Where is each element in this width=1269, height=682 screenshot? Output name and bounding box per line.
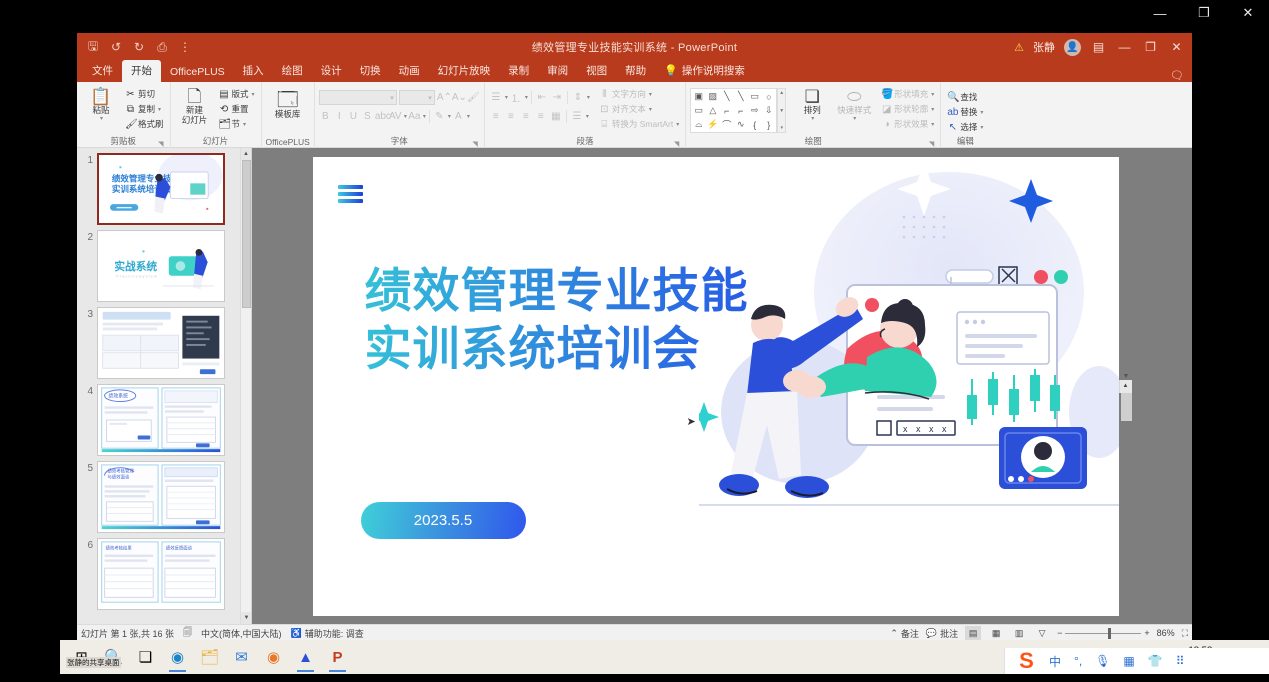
select-label: 选择 bbox=[960, 121, 977, 133]
zoom-track[interactable] bbox=[1065, 633, 1141, 634]
ribbon-tabs: 文件 开始 OfficePLUS 插入 绘图 设计 切换 动画 幻灯片放映 录制… bbox=[77, 61, 1192, 82]
decrease-indent-button[interactable]: ⇤ bbox=[535, 92, 549, 103]
bold-button[interactable]: B bbox=[319, 111, 332, 122]
ribbon-group-font: ▾ ▾ A⌃ A⌄ 🖌 B I U S abc AV ▾ Aa ▾ bbox=[315, 82, 485, 148]
thumbnail-slide-2[interactable]: 实战系统 P r a c t i c e S y s t e m bbox=[97, 230, 225, 302]
outer-maximize-button[interactable]: ❐ bbox=[1193, 5, 1215, 21]
accessibility-status[interactable]: ♿ 辅助功能: 调查 bbox=[291, 627, 364, 640]
thumbnail-number: 2 bbox=[81, 230, 97, 243]
menu-icon bbox=[338, 185, 363, 206]
underline-button[interactable]: U bbox=[347, 111, 360, 122]
share-icon[interactable]: 🗨 bbox=[1170, 69, 1192, 82]
shape-line[interactable]: ╲ bbox=[720, 90, 733, 103]
thumbnail-row[interactable]: 1 绩效管理专业技能 实训系统培训会 bbox=[77, 148, 251, 225]
tell-me-search[interactable]: 💡 操作说明搜索 bbox=[655, 60, 754, 82]
account-name[interactable]: 张静 bbox=[1033, 39, 1055, 55]
font-color-button[interactable]: A bbox=[452, 111, 465, 122]
align-text-label: 对齐文本 bbox=[612, 103, 646, 115]
running-indicator bbox=[169, 670, 186, 672]
text-direction-icon: ⦀ bbox=[599, 89, 610, 100]
chevron-down-icon[interactable]: ▾ bbox=[243, 121, 246, 128]
reading-view-button[interactable]: ▥ bbox=[1011, 626, 1027, 640]
accessibility-label: 辅助功能: 调查 bbox=[305, 627, 364, 640]
shape-rectangle[interactable]: ▭ bbox=[748, 90, 761, 103]
numbering-button[interactable]: ⒈ bbox=[509, 90, 523, 105]
cut-button[interactable]: ✂ 剪切 bbox=[123, 87, 166, 101]
taskbar: ⊞ 🔍 张静的共享桌面 ❏ ◉ 🗂 ✉ ◉ ▲ P ⌃ 🎙 ⇄ 🔊 ▭ 中 囲 … bbox=[60, 640, 1269, 674]
paste-button[interactable]: 📋 粘贴 ▾ bbox=[81, 86, 121, 123]
svg-text:实战系统: 实战系统 bbox=[114, 260, 157, 273]
shape-elbow-2[interactable]: ⌐ bbox=[734, 104, 747, 117]
columns-button[interactable]: ▦ bbox=[549, 111, 563, 122]
shape-right-arrow[interactable]: ⇨ bbox=[748, 104, 761, 117]
chevron-down-icon[interactable]: ▾ bbox=[586, 113, 589, 120]
thumbnail-number: 5 bbox=[81, 461, 97, 474]
shape-outline-button[interactable]: ◪ 形状轮廓 ▾ bbox=[879, 102, 936, 116]
zoom-slider[interactable]: − + bbox=[1057, 628, 1150, 638]
new-slide-icon: 🗋 bbox=[188, 88, 202, 105]
mail-icon[interactable]: ✉ bbox=[226, 642, 257, 673]
shape-lightning[interactable]: ⚡ bbox=[706, 118, 719, 131]
select-button[interactable]: ↖ 选择 ▾ bbox=[945, 120, 985, 134]
shape-down-arrow[interactable]: ⇩ bbox=[762, 104, 775, 117]
strikethrough-button[interactable]: abc bbox=[375, 111, 388, 122]
chevron-down-icon[interactable]: ▾ bbox=[931, 106, 934, 113]
lightbulb-icon: 💡 bbox=[664, 64, 678, 77]
ime-chinese-icon[interactable]: 中 bbox=[1049, 653, 1061, 670]
thumbnail-preview: 绩效系统 bbox=[98, 385, 224, 455]
search-icon: 🔍 bbox=[947, 92, 958, 103]
find-button[interactable]: 🔍 查找 bbox=[945, 90, 985, 104]
work-area: 1 绩效管理专业技能 实训系统培训会 bbox=[77, 148, 1192, 624]
thumbnail-preview: 实战系统 P r a c t i c e S y s t e m bbox=[98, 231, 224, 301]
chevron-down-icon[interactable]: ▾ bbox=[467, 113, 470, 120]
notes-page-icon[interactable]: 🗐 bbox=[183, 625, 192, 641]
chevron-down-icon[interactable]: ▾ bbox=[252, 91, 255, 98]
arrange-button[interactable]: ❏ 排列 ▾ bbox=[792, 86, 832, 123]
reset-icon: ⟲ bbox=[219, 104, 230, 115]
font-name-input[interactable]: ▾ bbox=[319, 90, 397, 105]
divider bbox=[531, 91, 532, 104]
new-slide-label: 新建 幻灯片 bbox=[182, 106, 208, 126]
section-icon: 🗂 bbox=[219, 119, 230, 130]
cut-label: 剪切 bbox=[138, 88, 155, 100]
shared-desktop-tooltip: 张静的共享桌面 bbox=[66, 657, 121, 668]
shape-curve[interactable]: ∿ bbox=[734, 118, 747, 131]
thumbnail-preview: 绩效考核结果 绩效反馈面谈 bbox=[98, 539, 224, 609]
scissors-icon: ✂ bbox=[125, 89, 136, 100]
thumbnail-slide-6[interactable]: 绩效考核结果 绩效反馈面谈 bbox=[97, 538, 225, 610]
date-badge[interactable]: 2023.5.5 bbox=[361, 502, 526, 539]
replace-label: 替换 bbox=[960, 106, 977, 118]
edge-glyph: ◉ bbox=[171, 648, 184, 666]
shapes-gallery-scrollbar[interactable]: ▲ ▼ ▾ bbox=[777, 88, 786, 133]
notes-icon: ⌃ bbox=[890, 628, 898, 639]
align-text-icon: ⊡ bbox=[599, 104, 610, 115]
chevron-down-icon[interactable]: ▾ bbox=[980, 109, 983, 116]
chevron-down-icon[interactable]: ▾ bbox=[100, 116, 103, 123]
svg-text:P r a c t i c e S y s t e m: P r a c t i c e S y s t e m bbox=[116, 274, 157, 279]
dialog-launcher-icon[interactable]: ◥ bbox=[158, 140, 163, 148]
slide-count-label[interactable]: 幻灯片 第 1 张,共 16 张 bbox=[81, 627, 174, 640]
quick-styles-label: 快速样式 bbox=[837, 106, 871, 116]
thumbnail-preview bbox=[98, 308, 224, 378]
convert-to-smartart-label: 转换为 SmartArt bbox=[612, 118, 673, 130]
zoom-level-label[interactable]: 86% bbox=[1157, 628, 1175, 638]
tab-help[interactable]: 帮助 bbox=[616, 60, 655, 82]
ime-voice-icon[interactable]: 🎙 bbox=[1095, 654, 1110, 668]
justify-button[interactable]: ≡ bbox=[534, 111, 548, 122]
outline-icon: ◪ bbox=[881, 104, 892, 115]
chevron-down-icon[interactable]: ▾ bbox=[676, 121, 679, 128]
chevron-down-icon[interactable]: ▾ bbox=[931, 91, 934, 98]
shape-outline-label: 形状轮廓 bbox=[894, 103, 928, 115]
scrollbar-thumb[interactable] bbox=[242, 160, 251, 308]
tab-draw[interactable]: 绘图 bbox=[273, 60, 312, 82]
chevron-down-icon[interactable]: ▾ bbox=[587, 94, 590, 101]
chevron-down-icon[interactable]: ▾ bbox=[931, 121, 934, 128]
tell-me-label: 操作说明搜索 bbox=[682, 63, 745, 78]
copy-label: 复制 bbox=[138, 103, 155, 115]
thumbnail-slide-1[interactable]: 绩效管理专业技能 实训系统培训会 bbox=[97, 153, 225, 225]
illustration-placeholder-text: x x x x bbox=[903, 424, 950, 434]
shape-elbow[interactable]: ⌐ bbox=[720, 104, 733, 117]
close-button[interactable]: ✕ bbox=[1168, 40, 1185, 54]
copy-button[interactable]: ⧉ 复制 ▾ bbox=[123, 102, 166, 116]
chevron-down-icon[interactable]: ▾ bbox=[525, 94, 528, 101]
format-painter-label: 格式刷 bbox=[138, 118, 164, 130]
template-library-button[interactable]: 🗔 模板库 bbox=[268, 90, 308, 120]
running-indicator bbox=[297, 670, 314, 672]
slide-canvas-area: 绩效管理专业技能 实训系统培训会 2023.5.5 ➤ bbox=[252, 148, 1192, 624]
scroll-up-icon[interactable]: ▲ bbox=[241, 148, 251, 160]
scroll-more-icon[interactable]: ▾ bbox=[781, 125, 784, 131]
align-text-button[interactable]: ⊡ 对齐文本 ▾ bbox=[597, 102, 681, 116]
text-direction-quick-button[interactable]: ☰ bbox=[570, 111, 584, 122]
group-label-clipboard: 剪贴板 ◥ bbox=[81, 135, 166, 148]
chevron-down-icon[interactable]: ▾ bbox=[649, 106, 652, 113]
reset-label: 重置 bbox=[232, 103, 249, 115]
chevron-down-icon[interactable]: ▾ bbox=[811, 116, 814, 123]
cursor-icon: ↖ bbox=[947, 122, 958, 133]
shape-picture[interactable]: ▨ bbox=[706, 90, 719, 103]
scrollbar-thumb[interactable] bbox=[1121, 393, 1132, 421]
ime-toolbar: S 中 °, 🎙 ▦ 👕 ⠿ bbox=[1004, 648, 1269, 674]
chevron-down-icon[interactable]: ▾ bbox=[158, 106, 161, 113]
ribbon-group-clipboard: 📋 粘贴 ▾ ✂ 剪切 ⧉ 复制 ▾ 🖌 bbox=[77, 82, 171, 148]
shape-right-brace[interactable]: } bbox=[762, 118, 775, 131]
copy-icon: ⧉ bbox=[125, 104, 136, 115]
thumbnail-number: 4 bbox=[81, 384, 97, 397]
group-label-officeplus: OfficePLUS bbox=[266, 137, 310, 148]
layout-label: 版式 bbox=[232, 88, 249, 100]
clear-formatting-icon[interactable]: 🖌 bbox=[467, 92, 480, 103]
scroll-down-icon[interactable]: ▼ bbox=[241, 612, 252, 624]
chevron-down-icon[interactable]: ▾ bbox=[448, 113, 451, 120]
quick-styles-button[interactable]: ⬭ 快速样式 ▾ bbox=[834, 86, 874, 123]
clipboard-icon: 📋 bbox=[90, 88, 111, 105]
svg-text:绩效系统: 绩效系统 bbox=[109, 393, 129, 400]
status-bar-right: ⌃ 备注 💬 批注 ▤ ▦ ▥ ▽ − + 86% ⛶ bbox=[890, 626, 1188, 640]
increase-indent-button[interactable]: ⇥ bbox=[550, 92, 564, 103]
shadow-button[interactable]: S bbox=[361, 111, 374, 122]
replace-button[interactable]: ab 替换 ▾ bbox=[945, 105, 985, 119]
meeting-app-glyph: ▲ bbox=[298, 649, 313, 666]
tab-view[interactable]: 视图 bbox=[577, 60, 616, 82]
shape-triangle[interactable]: △ bbox=[706, 104, 719, 117]
undo-icon[interactable]: ↺ bbox=[106, 37, 126, 57]
sogou-logo-icon[interactable]: S bbox=[1011, 648, 1042, 673]
shape-textbox[interactable]: ▣ bbox=[692, 90, 705, 103]
shape-fill-label: 形状填充 bbox=[894, 88, 928, 100]
thumbnail-row[interactable]: 2 实战系统 P r a c t i c e S y s t e m bbox=[77, 225, 251, 302]
find-label: 查找 bbox=[960, 91, 977, 103]
shape-fill-button[interactable]: 🪣 形状填充 ▾ bbox=[879, 87, 936, 101]
chevron-down-icon[interactable]: ▾ bbox=[853, 116, 856, 123]
thumbnail-row[interactable]: 6 绩效考核结果 绩效反馈面谈 bbox=[77, 533, 251, 610]
zoom-handle[interactable] bbox=[1108, 628, 1111, 639]
template-library-label: 模板库 bbox=[275, 110, 301, 120]
divider bbox=[566, 110, 567, 123]
task-view-icon[interactable]: ❏ bbox=[130, 642, 161, 673]
thumbnail-scrollbar[interactable]: ▲ ▼ bbox=[240, 148, 251, 624]
ime-toolbox-icon[interactable]: ⠿ bbox=[1176, 654, 1185, 668]
minimize-button[interactable]: — bbox=[1116, 40, 1133, 54]
thumbnail-slide-5[interactable]: 绩效考核管理 与绩效面谈 bbox=[97, 461, 225, 533]
slideshow-view-button[interactable]: ▽ bbox=[1034, 626, 1050, 640]
comments-label: 批注 bbox=[940, 627, 958, 640]
tab-review[interactable]: 审阅 bbox=[538, 60, 577, 82]
title-bar: 🖫 ↺ ↻ ⎙ ⋮ 绩效管理专业技能实训系统 - PowerPoint ⚠ 张静… bbox=[77, 33, 1192, 61]
tab-design[interactable]: 设计 bbox=[312, 60, 351, 82]
paste-label: 粘贴 bbox=[92, 106, 109, 116]
ribbon: 📋 粘贴 ▾ ✂ 剪切 ⧉ 复制 ▾ 🖌 bbox=[77, 82, 1192, 148]
tab-home[interactable]: 开始 bbox=[122, 60, 161, 82]
outer-window-controls: — ❐ ✕ bbox=[0, 0, 1269, 26]
language-label[interactable]: 中文(简体,中国大陆) bbox=[201, 627, 282, 640]
shapes-gallery[interactable]: ▣ ▨ ╲ ╲ ▭ ○ ▭ △ ⌐ ⌐ ⇨ ⇩ ⌓ ⚡ ⌒ bbox=[690, 88, 777, 133]
align-left-button[interactable]: ≡ bbox=[489, 111, 503, 122]
quick-styles-icon: ⬭ bbox=[847, 88, 862, 105]
file-explorer-icon[interactable]: 🗂 bbox=[194, 642, 225, 673]
layout-button[interactable]: ▤ 版式 ▾ bbox=[217, 87, 257, 101]
running-indicator bbox=[329, 670, 346, 672]
ime-skin-icon[interactable]: 👕 bbox=[1148, 654, 1163, 668]
date-label: 2023.5.5 bbox=[414, 512, 472, 529]
ribbon-group-paragraph: ☰ ▾ ⒈ ▾ ⇤ ⇥ ⇕ ▾ ≡ ≡ ≡ bbox=[485, 82, 686, 148]
scroll-up-icon[interactable]: ▲ bbox=[1120, 380, 1132, 393]
reset-button[interactable]: ⟲ 重置 bbox=[217, 102, 257, 116]
template-library-icon: 🗔 bbox=[277, 92, 299, 109]
canvas-scrollbar[interactable]: ▲ ▼ bbox=[1119, 380, 1132, 393]
qat-more-icon[interactable]: ⋮ bbox=[175, 37, 195, 57]
ribbon-group-editing: 🔍 查找 ab 替换 ▾ ↖ 选择 ▾ 编辑 bbox=[941, 82, 989, 148]
chevron-down-icon[interactable]: ▾ bbox=[980, 124, 983, 131]
divider bbox=[567, 91, 568, 104]
powerpoint-window: 🖫 ↺ ↻ ⎙ ⋮ 绩效管理专业技能实训系统 - PowerPoint ⚠ 张静… bbox=[77, 33, 1192, 641]
divider bbox=[429, 110, 430, 123]
slide-thumbnail-panel[interactable]: 1 绩效管理专业技能 实训系统培训会 bbox=[77, 148, 252, 624]
meeting-app-icon[interactable]: ▲ bbox=[290, 642, 321, 673]
thumbnail-number: 6 bbox=[81, 538, 97, 551]
tab-insert[interactable]: 插入 bbox=[234, 60, 273, 82]
tab-officeplus[interactable]: OfficePLUS bbox=[161, 63, 234, 82]
section-label: 节 bbox=[232, 118, 241, 130]
bullets-button[interactable]: ☰ bbox=[489, 92, 503, 103]
slide-illustration: x x x x bbox=[699, 157, 1119, 616]
arrange-label: 排列 bbox=[804, 106, 821, 116]
dialog-launcher-icon[interactable]: ◥ bbox=[674, 140, 679, 148]
dialog-launcher-icon[interactable]: ◥ bbox=[929, 140, 934, 148]
tab-transitions[interactable]: 切换 bbox=[351, 60, 390, 82]
align-center-button[interactable]: ≡ bbox=[504, 111, 518, 122]
ribbon-display-options-icon[interactable]: ▤ bbox=[1090, 40, 1107, 54]
shape-effects-button[interactable]: ◑ 形状效果 ▾ bbox=[879, 117, 936, 131]
zoom-out-button[interactable]: − bbox=[1057, 628, 1062, 638]
mouse-cursor-icon: ➤ bbox=[687, 415, 696, 428]
outer-close-button[interactable]: ✕ bbox=[1237, 5, 1259, 21]
group-label-editing: 编辑 bbox=[945, 135, 985, 148]
shape-arc[interactable]: ⌒ bbox=[720, 118, 733, 131]
quick-access-toolbar: 🖫 ↺ ↻ ⎙ ⋮ bbox=[77, 37, 195, 57]
layout-icon: ▤ bbox=[219, 89, 230, 100]
format-painter-button[interactable]: 🖌 格式刷 bbox=[123, 117, 166, 131]
group-label-drawing: 绘图 ◥ bbox=[690, 135, 936, 148]
thumbnail-slide-4[interactable]: 绩效系统 bbox=[97, 384, 225, 456]
chevron-down-icon[interactable]: ▾ bbox=[423, 113, 426, 120]
text-direction-label: 文字方向 bbox=[612, 88, 646, 100]
ime-keyboard-icon[interactable]: ▦ bbox=[1123, 654, 1134, 668]
zoom-in-button[interactable]: + bbox=[1144, 628, 1149, 638]
italic-button[interactable]: I bbox=[333, 111, 346, 122]
chevron-down-icon[interactable]: ▾ bbox=[505, 94, 508, 101]
group-label-paragraph: 段落 ◥ bbox=[489, 135, 681, 148]
tab-record[interactable]: 录制 bbox=[499, 60, 538, 82]
slide-sorter-view-button[interactable]: ▦ bbox=[988, 626, 1004, 640]
shape-arrow[interactable]: ╲ bbox=[734, 90, 747, 103]
tab-slideshow[interactable]: 幻灯片放映 bbox=[429, 60, 500, 82]
powerpoint-icon[interactable]: P bbox=[322, 642, 353, 673]
fill-bucket-icon: 🪣 bbox=[881, 89, 892, 100]
scroll-up-icon[interactable]: ▲ bbox=[779, 90, 784, 96]
ime-punctuation-icon[interactable]: °, bbox=[1074, 654, 1082, 668]
tab-file[interactable]: 文件 bbox=[83, 60, 122, 82]
character-spacing-button[interactable]: AV bbox=[389, 111, 402, 122]
svg-text:绩效考核结果: 绩效考核结果 bbox=[106, 545, 133, 552]
text-direction-button[interactable]: ⦀ 文字方向 ▾ bbox=[597, 87, 681, 101]
powerpoint-glyph: P bbox=[332, 649, 342, 666]
scroll-down-icon[interactable]: ▼ bbox=[779, 108, 784, 114]
firefox-icon[interactable]: ◉ bbox=[258, 642, 289, 673]
text-highlight-button[interactable]: ✎ bbox=[433, 111, 446, 122]
align-right-button[interactable]: ≡ bbox=[519, 111, 533, 122]
notes-button[interactable]: ⌃ 备注 bbox=[890, 627, 919, 640]
decrease-font-size-icon[interactable]: A⌄ bbox=[452, 92, 465, 103]
chevron-down-icon[interactable]: ▾ bbox=[404, 113, 407, 120]
group-label-slides: 幻灯片 bbox=[175, 135, 257, 148]
thumbnail-row[interactable]: 4 绩效系统 bbox=[77, 379, 251, 456]
ribbon-group-slides: 🗋 新建 幻灯片 ▤ 版式 ▾ ⟲ 重置 🗂 节 bbox=[171, 82, 262, 148]
shape-effects-label: 形状效果 bbox=[894, 118, 928, 130]
font-size-input[interactable]: ▾ bbox=[399, 90, 435, 105]
comment-icon: 💬 bbox=[926, 628, 937, 639]
scroll-down-icon[interactable]: ▼ bbox=[1120, 373, 1133, 380]
redo-icon[interactable]: ↻ bbox=[129, 37, 149, 57]
outer-minimize-button[interactable]: — bbox=[1149, 6, 1171, 21]
replace-icon: ab bbox=[947, 107, 958, 118]
notes-label: 备注 bbox=[901, 627, 919, 640]
shape-left-brace[interactable]: { bbox=[748, 118, 761, 131]
thumbnail-preview: 绩效管理专业技能 实训系统培训会 bbox=[99, 155, 223, 223]
thumbnail-number: 3 bbox=[81, 307, 97, 320]
smartart-icon: ⌸ bbox=[599, 119, 610, 130]
thumbnail-row[interactable]: 3 bbox=[77, 302, 251, 379]
save-icon[interactable]: 🖫 bbox=[83, 37, 103, 57]
shape-oval[interactable]: ○ bbox=[762, 90, 775, 103]
thumbnail-preview: 绩效考核管理 与绩效面谈 bbox=[98, 462, 224, 532]
accessibility-icon: ♿ bbox=[291, 628, 302, 639]
warning-icon[interactable]: ⚠ bbox=[1014, 41, 1024, 54]
line-spacing-button[interactable]: ⇕ bbox=[571, 92, 585, 103]
svg-text:与绩效面谈: 与绩效面谈 bbox=[108, 474, 130, 481]
increase-font-size-icon[interactable]: A⌃ bbox=[437, 92, 450, 103]
tab-animations[interactable]: 动画 bbox=[390, 60, 429, 82]
thumbnail-row[interactable]: 5 绩效考核管理 与绩效面谈 bbox=[77, 456, 251, 533]
restore-button[interactable]: ❐ bbox=[1142, 40, 1159, 54]
normal-view-button[interactable]: ▤ bbox=[965, 626, 981, 640]
brush-icon: 🖌 bbox=[125, 119, 136, 130]
thumbnail-slide-3[interactable] bbox=[97, 307, 225, 379]
title-bar-right: ⚠ 张静 👤 ▤ — ❐ ✕ bbox=[1014, 39, 1192, 56]
edge-icon[interactable]: ◉ bbox=[162, 642, 193, 673]
start-slideshow-icon[interactable]: ⎙ bbox=[152, 37, 172, 57]
fit-to-window-button[interactable]: ⛶ bbox=[1182, 628, 1188, 639]
effects-icon: ◑ bbox=[881, 119, 892, 130]
ribbon-group-drawing: ▣ ▨ ╲ ╲ ▭ ○ ▭ △ ⌐ ⌐ ⇨ ⇩ ⌓ ⚡ ⌒ bbox=[686, 82, 941, 148]
comments-button[interactable]: 💬 批注 bbox=[926, 627, 958, 640]
status-bar: 幻灯片 第 1 张,共 16 张 🗐 中文(简体,中国大陆) ♿ 辅助功能: 调… bbox=[77, 624, 1192, 641]
dialog-launcher-icon[interactable]: ◥ bbox=[472, 140, 477, 148]
new-slide-button[interactable]: 🗋 新建 幻灯片 bbox=[175, 86, 215, 126]
shape-rounded-rect[interactable]: ▭ bbox=[692, 104, 705, 117]
change-case-button[interactable]: Aa bbox=[408, 111, 421, 122]
avatar[interactable]: 👤 bbox=[1064, 39, 1081, 56]
group-label-font: 字体 ◥ bbox=[319, 135, 480, 148]
svg-text:绩效反馈面谈: 绩效反馈面谈 bbox=[166, 545, 193, 552]
convert-to-smartart-button[interactable]: ⌸ 转换为 SmartArt ▾ bbox=[597, 117, 681, 131]
slide-canvas[interactable]: 绩效管理专业技能 实训系统培训会 2023.5.5 ➤ bbox=[313, 157, 1119, 616]
arrange-icon: ❏ bbox=[805, 88, 820, 105]
chevron-down-icon[interactable]: ▾ bbox=[649, 91, 652, 98]
shape-pie[interactable]: ⌓ bbox=[692, 118, 705, 131]
thumbnail-number: 1 bbox=[81, 153, 97, 166]
ribbon-group-officeplus: 🗔 模板库 OfficePLUS bbox=[262, 82, 315, 148]
section-button[interactable]: 🗂 节 ▾ bbox=[217, 117, 257, 131]
